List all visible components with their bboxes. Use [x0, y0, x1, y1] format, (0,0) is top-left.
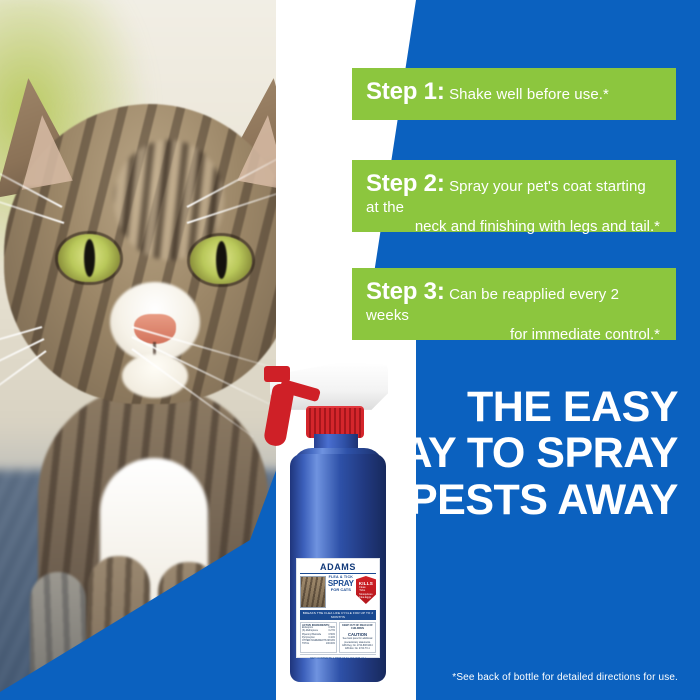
step-1-text: Shake well before use.* — [449, 86, 609, 103]
active-ingredients-panel: ACTIVE INGREDIENTS: Etofenprox0.50% (S)-… — [300, 622, 337, 653]
caution-note: See back panel for additional precaution… — [341, 638, 374, 644]
step-1-label: Step 1: — [366, 78, 445, 105]
step-3-label: Step 3: — [366, 278, 445, 305]
ingredient-value: 100.00% — [326, 643, 335, 646]
step-2-label: Step 2: — [366, 170, 445, 197]
keep-out-of-reach-header: KEEP OUT OF REACH OF CHILDREN — [341, 624, 374, 631]
shield-items: Fleas Ticks Mosquitoes Flea Eggs — [359, 586, 372, 599]
net-contents: NET CONTENTS 1 PINT 16 FL OZ (473 mL) — [300, 654, 376, 660]
ingredient-row: TOTAL100.00% — [302, 643, 335, 646]
step-item-1: Step 1: Shake well before use.* — [352, 68, 676, 120]
label-cat-photo — [300, 576, 326, 608]
label-middle-row: FLEA & TICK SPRAY FOR CATS KILLS Fleas T… — [300, 576, 376, 608]
epa-registration: EPA Reg. No. 2724-808-9444 EPA Est. No. … — [341, 645, 374, 651]
caution-label: CAUTION — [341, 632, 374, 638]
step-item-3: Step 3: Can be reapplied every 2 weeks f… — [352, 268, 676, 340]
caution-panel: KEEP OUT OF REACH OF CHILDREN CAUTION Se… — [339, 622, 376, 653]
product-spray-bottle: ADAMS FLEA & TICK SPRAY FOR CATS KILLS F… — [252, 362, 392, 682]
product-label: ADAMS FLEA & TICK SPRAY FOR CATS KILLS F… — [296, 558, 380, 658]
product-claim: BREAKS THE FLEA LIFE CYCLE FOR UP TO 2 M… — [300, 610, 376, 620]
step-3-text-line2: for immediate control.* — [366, 326, 662, 343]
footnote-disclaimer: *See back of bottle for detailed directi… — [452, 672, 678, 683]
sprayer-trigger — [263, 383, 295, 448]
product-audience: FOR CATS — [328, 588, 354, 592]
step-item-2: Step 2: Spray your pet's coat starting a… — [352, 160, 676, 232]
promotional-banner: Step 1: Shake well before use.* Step 2: … — [0, 0, 700, 700]
step-2-row: Step 2: Spray your pet's coat starting a… — [366, 169, 662, 218]
ingredient-name: TOTAL — [302, 643, 309, 646]
step-1-row: Step 1: Shake well before use.* — [366, 77, 662, 106]
step-2-text-line2: neck and finishing with legs and tail.* — [366, 218, 662, 235]
product-brand: ADAMS — [300, 562, 376, 574]
kills-shield-icon: KILLS Fleas Ticks Mosquitoes Flea Eggs — [356, 576, 376, 604]
label-panels: ACTIVE INGREDIENTS: Etofenprox0.50% (S)-… — [300, 622, 376, 653]
step-3-row: Step 3: Can be reapplied every 2 weeks — [366, 277, 662, 326]
label-title-block: FLEA & TICK SPRAY FOR CATS — [328, 576, 354, 608]
